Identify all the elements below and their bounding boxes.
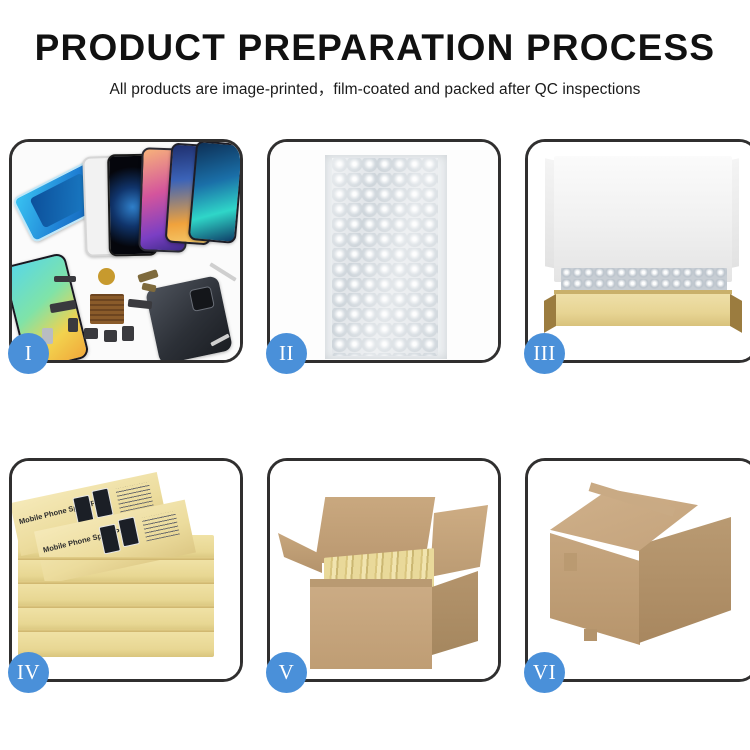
sealed-carton-tab-lower — [584, 629, 597, 641]
stack-seam-4 — [18, 629, 214, 632]
lid-phone-image-front-2 — [117, 516, 139, 547]
sealed-carton-tab-upper — [564, 553, 577, 571]
stack-seam-1 — [18, 557, 214, 560]
step-badge-6: VI — [524, 652, 565, 693]
ribbon-part — [128, 299, 153, 309]
stack-box-5 — [18, 631, 214, 657]
step-5-image — [270, 461, 498, 679]
page-title: PRODUCT PREPARATION PROCESS — [0, 26, 750, 70]
gold-coil-part — [98, 268, 115, 285]
process-step-2[interactable]: II — [267, 139, 501, 363]
carton-left-flap — [278, 533, 322, 573]
carton-front-panel — [310, 587, 432, 669]
bar-part — [54, 276, 76, 282]
flex-cable-part — [137, 269, 158, 283]
process-step-5[interactable]: V — [267, 458, 501, 682]
stack-box-3 — [18, 583, 214, 607]
process-step-grid: I II III — [9, 139, 741, 682]
step-badge-3: III — [524, 333, 565, 374]
step-4-image: Mobile Phone Spare Parts Mobile Phone Sp… — [12, 461, 240, 679]
step-1-image — [12, 142, 240, 360]
step-badge-4: IV — [8, 652, 49, 693]
page-subtitle: All products are image-printed，film-coat… — [0, 79, 750, 101]
open-carton-scene — [270, 461, 498, 679]
small-module-part — [68, 318, 78, 332]
bubble-wrap-highlight — [332, 158, 438, 356]
stack-box-4 — [18, 607, 214, 631]
step-badge-1: I — [8, 333, 49, 374]
step-6-image — [528, 461, 750, 679]
process-step-1[interactable]: I — [9, 139, 243, 363]
step-3-image — [528, 142, 750, 360]
mailer-box-scene — [528, 142, 750, 360]
process-step-6[interactable]: VI — [525, 458, 750, 682]
circuit-board-part — [90, 294, 124, 324]
step-2-image — [270, 142, 498, 360]
sealed-carton-scene — [528, 461, 750, 679]
camera-module-part — [84, 328, 98, 339]
teal-wave-phone — [188, 142, 240, 244]
lid-text-lines-front — [142, 511, 180, 542]
box-stack-scene: Mobile Phone Spare Parts Mobile Phone Sp… — [12, 461, 240, 679]
bubble-wrap-scene — [270, 142, 498, 360]
vibrator-part — [122, 326, 134, 341]
step-badge-5: V — [266, 652, 307, 693]
mailer-box-front — [554, 294, 732, 326]
lid-phone-image-rear-2 — [91, 487, 113, 518]
process-step-3[interactable]: III — [525, 139, 750, 363]
carton-right-flap — [430, 505, 488, 577]
mailer-lid — [554, 156, 732, 282]
flex-cable-part-2 — [141, 283, 156, 293]
step-badge-2: II — [266, 333, 307, 374]
page-header: PRODUCT PREPARATION PROCESS All products… — [0, 0, 750, 101]
speaker-part — [104, 330, 117, 342]
process-step-4[interactable]: Mobile Phone Spare Parts Mobile Phone Sp… — [9, 458, 243, 682]
stack-seam-3 — [18, 605, 214, 608]
stack-seam-2 — [18, 581, 214, 584]
phone-back-housing — [145, 275, 233, 360]
carton-side-panel — [432, 571, 478, 655]
phone-parts-scene — [12, 142, 240, 360]
